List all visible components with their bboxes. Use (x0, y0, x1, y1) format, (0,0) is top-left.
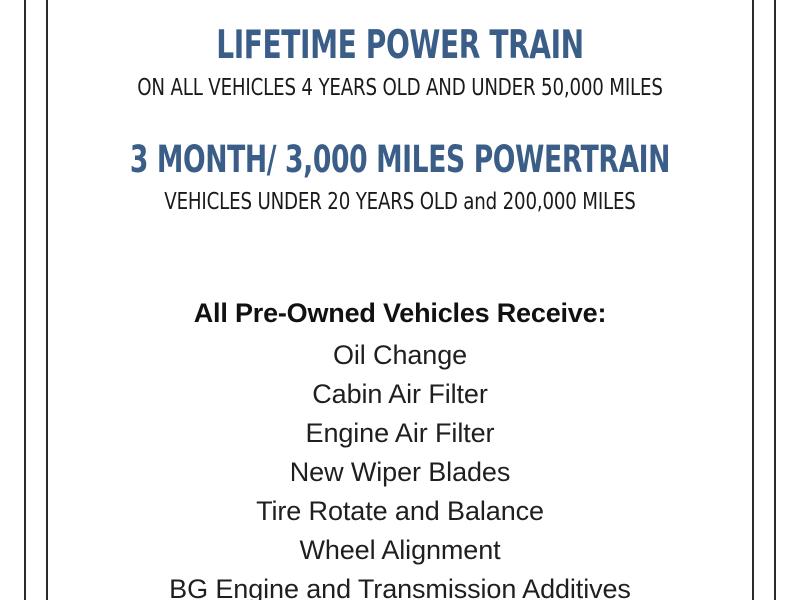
border-rule-right-outer (774, 0, 776, 600)
service-item: New Wiper Blades (48, 453, 752, 492)
service-item: Wheel Alignment (48, 531, 752, 570)
flyer-page: LIFETIME POWER TRAIN ON ALL VEHICLES 4 Y… (0, 0, 800, 600)
services-heading: All Pre-Owned Vehicles Receive: (48, 297, 752, 330)
service-item: Tire Rotate and Balance (48, 492, 752, 531)
service-item: Engine Air Filter (48, 414, 752, 453)
offer-block-lifetime-powertrain: LIFETIME POWER TRAIN ON ALL VEHICLES 4 Y… (48, 24, 752, 102)
services-section: All Pre-Owned Vehicles Receive: Oil Chan… (48, 297, 752, 600)
offer-headline-lifetime-powertrain: LIFETIME POWER TRAIN (118, 24, 681, 68)
offer-subhead-lifetime-powertrain: ON ALL VEHICLES 4 YEARS OLD AND UNDER 50… (90, 74, 710, 102)
service-item: BG Engine and Transmission Additives (48, 570, 752, 600)
border-rule-left-outer (24, 0, 26, 600)
border-rule-right-inner (752, 0, 754, 600)
offer-subhead-3month-powertrain: VEHICLES UNDER 20 YEARS OLD and 200,000 … (90, 188, 710, 216)
content-column: LIFETIME POWER TRAIN ON ALL VEHICLES 4 Y… (48, 0, 752, 600)
services-list: Oil Change Cabin Air Filter Engine Air F… (48, 336, 752, 600)
service-item: Oil Change (48, 336, 752, 375)
offer-block-3month-powertrain: 3 MONTH/ 3,000 MILES POWERTRAIN VEHICLES… (48, 138, 752, 216)
offer-headline-3month-powertrain: 3 MONTH/ 3,000 MILES POWERTRAIN (118, 138, 681, 182)
service-item: Cabin Air Filter (48, 375, 752, 414)
